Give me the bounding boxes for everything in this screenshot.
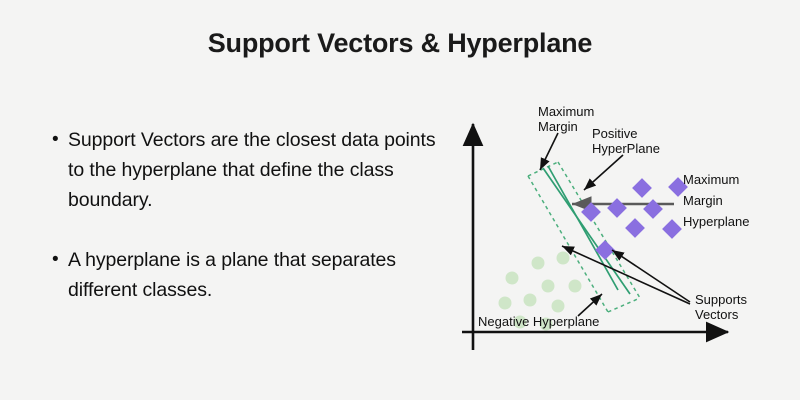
data-point-negative: [552, 300, 565, 313]
positive-hyperplane-pointer: [584, 155, 623, 190]
page-title: Support Vectors & Hyperplane: [0, 28, 800, 59]
data-point-positive: [607, 198, 627, 218]
slide-canvas: Support Vectors & Hyperplane • Support V…: [0, 0, 800, 400]
maximum-margin-pointer: [540, 133, 558, 170]
diagram-labels-group: Maximum Margin Positive HyperPlane Maxim…: [478, 104, 750, 329]
data-point-negative: [557, 252, 570, 265]
data-point-positive: [662, 219, 682, 239]
list-item: • Support Vectors are the closest data p…: [52, 125, 452, 215]
negative-hyperplane-pointer: [578, 294, 602, 316]
data-point-negative: [524, 294, 537, 307]
label-maximum-margin-line2: Margin: [538, 119, 578, 134]
label-positive-hyperplane-line1: Positive: [592, 126, 638, 141]
bullet-text: Support Vectors are the closest data poi…: [68, 125, 452, 215]
data-point-negative: [506, 272, 519, 285]
bullet-text: A hyperplane is a plane that separates d…: [68, 245, 452, 305]
bullet-marker-icon: •: [52, 125, 68, 155]
label-negative-hyperplane: Negative Hyperplane: [478, 314, 599, 329]
data-point-negative: [569, 280, 582, 293]
supports-vectors-pointer-upper: [612, 250, 690, 302]
supports-vectors-pointer-lower: [562, 246, 690, 304]
margin-band-bottom-dashed: [608, 298, 640, 312]
data-point-negative: [542, 280, 555, 293]
label-max-margin-hyperplane-line2: Margin: [683, 193, 723, 208]
data-point-positive: [595, 240, 615, 260]
svm-diagram: Maximum Margin Positive HyperPlane Maxim…: [450, 100, 800, 365]
data-point-negative: [532, 257, 545, 270]
data-point-positive: [643, 199, 663, 219]
label-supports-vectors-line1: Supports: [695, 292, 748, 307]
label-maximum-margin-line1: Maximum: [538, 104, 594, 119]
label-positive-hyperplane-line2: HyperPlane: [592, 141, 660, 156]
label-max-margin-hyperplane-line1: Maximum: [683, 172, 739, 187]
list-item: • A hyperplane is a plane that separates…: [52, 245, 452, 305]
data-point-positive: [625, 218, 645, 238]
secondary-hyperplane-solid: [548, 166, 618, 290]
data-point-negative: [499, 297, 512, 310]
bullet-list: • Support Vectors are the closest data p…: [52, 125, 452, 335]
data-point-positive: [632, 178, 652, 198]
label-supports-vectors-line2: Vectors: [695, 307, 739, 322]
label-max-margin-hyperplane-line3: Hyperplane: [683, 214, 750, 229]
bullet-marker-icon: •: [52, 245, 68, 275]
